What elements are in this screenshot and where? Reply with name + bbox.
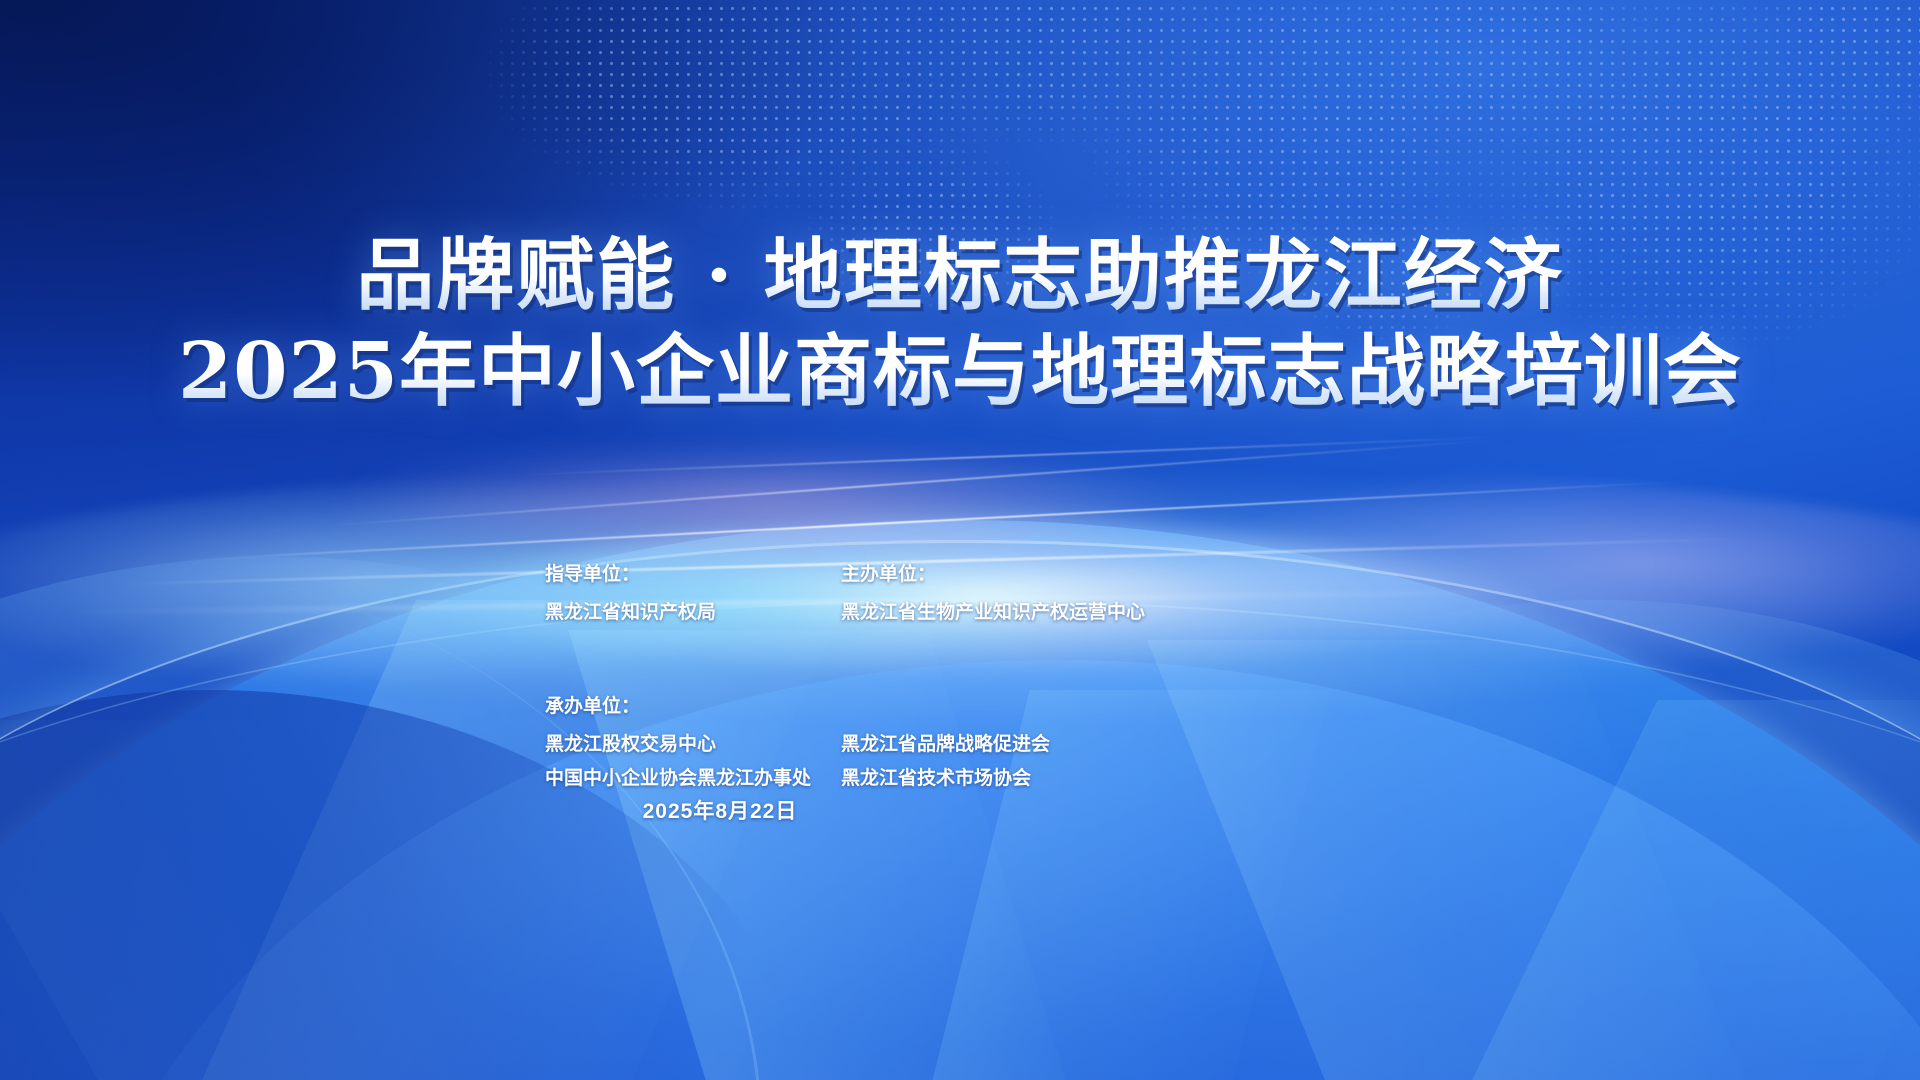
organizer-block-spacer (545, 630, 1445, 690)
organizer-unit-name-1: 黑龙江股权交易中心 (545, 728, 841, 762)
organizer-unit-label: 承办单位： (545, 690, 1445, 724)
organizer-row-top: 指导单位： 黑龙江省知识产权局 主办单位： 黑龙江省生物产业知识产权运营中心 (545, 558, 1445, 630)
organizer-info-block: 指导单位： 黑龙江省知识产权局 主办单位： 黑龙江省生物产业知识产权运营中心 承… (545, 558, 1445, 796)
host-unit-column: 主办单位： 黑龙江省生物产业知识产权运营中心 (841, 558, 1261, 630)
organizer-unit-name-2: 中国中小企业协会黑龙江办事处 (545, 762, 841, 796)
host-unit-name: 黑龙江省生物产业知识产权运营中心 (841, 596, 1261, 630)
organizer-unit-name-4: 黑龙江省技术市场协会 (841, 762, 1261, 796)
organizer-names-row-2: 中国中小企业协会黑龙江办事处 黑龙江省技术市场协会 (545, 762, 1445, 796)
guidance-unit-column: 指导单位： 黑龙江省知识产权局 (545, 558, 841, 630)
guidance-unit-label: 指导单位： (545, 558, 841, 592)
guidance-unit-name: 黑龙江省知识产权局 (545, 596, 841, 630)
title-line-1: 品牌赋能 · 地理标志助推龙江经济 (0, 228, 1920, 324)
organizer-row-bottom: 承办单位： 黑龙江股权交易中心 黑龙江省品牌战略促进会 中国中小企业协会黑龙江办… (545, 690, 1445, 796)
organizer-unit-name-3: 黑龙江省品牌战略促进会 (841, 728, 1261, 762)
organizer-names-row-1: 黑龙江股权交易中心 黑龙江省品牌战略促进会 (545, 728, 1445, 762)
host-unit-label: 主办单位： (841, 558, 1261, 592)
title-line-2: 2025年中小企业商标与地理标志战略培训会 (0, 324, 1920, 420)
poster-canvas: 品牌赋能 · 地理标志助推龙江经济 2025年中小企业商标与地理标志战略培训会 … (0, 0, 1920, 1080)
event-date: 2025年8月22日 (545, 795, 895, 825)
poster-title: 品牌赋能 · 地理标志助推龙江经济 2025年中小企业商标与地理标志战略培训会 (0, 228, 1920, 420)
